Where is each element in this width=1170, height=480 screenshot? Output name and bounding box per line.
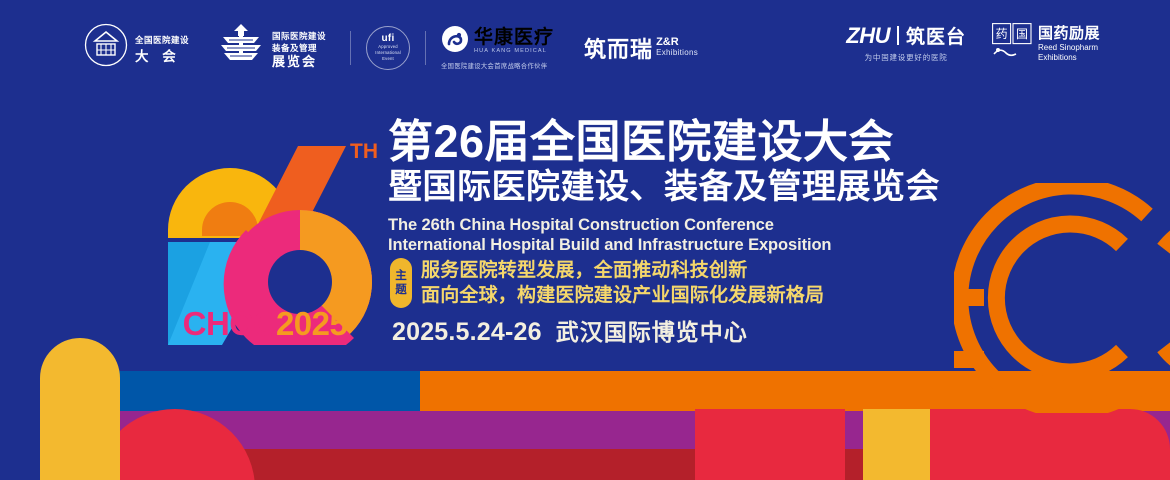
svg-text:TH: TH (350, 140, 378, 163)
theme-line-1: 服务医院转型发展，全面推动科技创新 (421, 258, 824, 283)
theme-badge-char-1: 主 (395, 269, 407, 283)
zhurui-cn: 筑而瑞 (584, 32, 653, 64)
event-date-venue: 2025.5.24-26 武汉国际博览中心 (392, 313, 748, 347)
zhurui-en-1: Z&R (656, 37, 698, 48)
title-en-line-1: The 26th China Hospital Construction Con… (388, 215, 928, 235)
exhibition-label: 国际医院建设 装备及管理 展览会 (272, 27, 326, 68)
logo-line-2: 大 会 (135, 50, 189, 64)
chcc-wordmark-year: 2025 (276, 305, 347, 342)
zhuyitai-tagline: 为中国建设更好的医院 (865, 52, 948, 63)
title-en-line-2: International Hospital Build and Infrast… (388, 235, 928, 255)
theme-block: 主 题 服务医院转型发展，全面推动科技创新 面向全球，构建医院建设产业国际化发展… (390, 258, 824, 308)
theme-line-2: 面向全球，构建医院建设产业国际化发展新格局 (421, 283, 824, 308)
blob-yellow-pill (40, 338, 120, 480)
ufi-label: ufi (381, 33, 394, 44)
huakang-medical-logo[interactable]: 华康医疗 HUA KANG MEDICAL 全国医院建设大会首席战略合作伙伴 (441, 25, 554, 70)
huakang-wordmark: 华康医疗 HUA KANG MEDICAL (474, 28, 554, 55)
svg-text:国: 国 (1016, 27, 1028, 41)
partner-logo-strip: 全国医院建设 大 会 (0, 22, 1170, 78)
bar-blue (95, 371, 420, 411)
reed-sinopharm-wordmark: 国药励展 Reed Sinopharm Exhibitions (1038, 22, 1100, 63)
event-date: 2025.5.24-26 (392, 318, 542, 347)
event-venue: 武汉国际博览中心 (556, 313, 748, 347)
title-block: 第26届全国医院建设大会 暨国际医院建设、装备及管理展览会 The 26th C… (388, 118, 928, 256)
zhuyitai-en: ZHU (846, 23, 890, 49)
snowflake-building-icon (217, 22, 265, 73)
zhuyitai-divider (897, 26, 899, 45)
huakang-subtitle: 全国医院建设大会首席战略合作伙伴 (441, 61, 547, 70)
huakang-cn: 华康医疗 (474, 28, 554, 48)
svg-text:药: 药 (996, 27, 1008, 41)
reed-en-2: Exhibitions (1038, 53, 1100, 63)
logo-line-2: 展览会 (272, 55, 326, 69)
title-en-block: The 26th China Hospital Construction Con… (388, 215, 928, 256)
zhuyitai-logo[interactable]: ZHU 筑医台 为中国建设更好的医院 (846, 22, 966, 63)
blob-red-center (695, 409, 845, 480)
blob-red-right (930, 409, 1170, 480)
theme-badge-char-2: 题 (395, 283, 407, 297)
reed-sinopharm-seal-icon: 药 国 (992, 23, 1032, 62)
logo-line-1: 国际医院建设 (272, 31, 326, 41)
zhurui-exhibitions-logo[interactable]: 筑而瑞 Z&R Exhibitions (584, 32, 698, 64)
title-cn-main: 第26届全国医院建设大会 (388, 118, 928, 166)
chcc-conference-label: 全国医院建设 大 会 (135, 31, 189, 64)
huakang-swirl-icon (441, 25, 469, 58)
blob-yellow-right (863, 409, 930, 480)
reed-en-1: Reed Sinopharm (1038, 43, 1100, 53)
chcc-conference-logo[interactable]: 全国医院建设 大 会 (84, 23, 189, 72)
ufi-sub-3: Event (382, 56, 394, 62)
building-emblem-icon (84, 23, 128, 72)
huakang-en: HUA KANG MEDICAL (474, 49, 554, 55)
chcc-wordmark: CHCC2025 (155, 305, 375, 343)
logo-line-1: 全国医院建设 (135, 35, 189, 45)
partner-logos-left: 全国医院建设 大 会 (84, 22, 698, 73)
zhurui-en-2: Exhibitions (656, 48, 698, 58)
reed-sinopharm-logo[interactable]: 药 国 国药励展 Reed Sinopharm Exhibitions (992, 22, 1100, 63)
zhurui-en-wrap: Z&R Exhibitions (656, 37, 698, 58)
reed-cn: 国药励展 (1038, 22, 1100, 43)
decorative-c-arcs (954, 183, 1170, 413)
partner-logos-right: ZHU 筑医台 为中国建设更好的医院 药 国 (846, 22, 1100, 63)
logo-separator (350, 31, 351, 65)
chcc-wordmark-letters: CHCC (183, 305, 276, 342)
logo-separator (425, 31, 426, 65)
chcc-2025-event-banner: 全国医院建设 大 会 (0, 0, 1170, 480)
title-cn-sub: 暨国际医院建设、装备及管理展览会 (388, 168, 928, 206)
logo-line-1b: 装备及管理 (272, 44, 326, 53)
theme-badge: 主 题 (390, 258, 412, 308)
exhibition-logo[interactable]: 国际医院建设 装备及管理 展览会 (217, 22, 326, 73)
zhuyitai-cn: 筑医台 (906, 22, 966, 49)
ufi-approved-icon[interactable]: ufi Approved International Event (366, 26, 410, 70)
theme-lines: 服务医院转型发展，全面推动科技创新 面向全球，构建医院建设产业国际化发展新格局 (421, 258, 824, 308)
